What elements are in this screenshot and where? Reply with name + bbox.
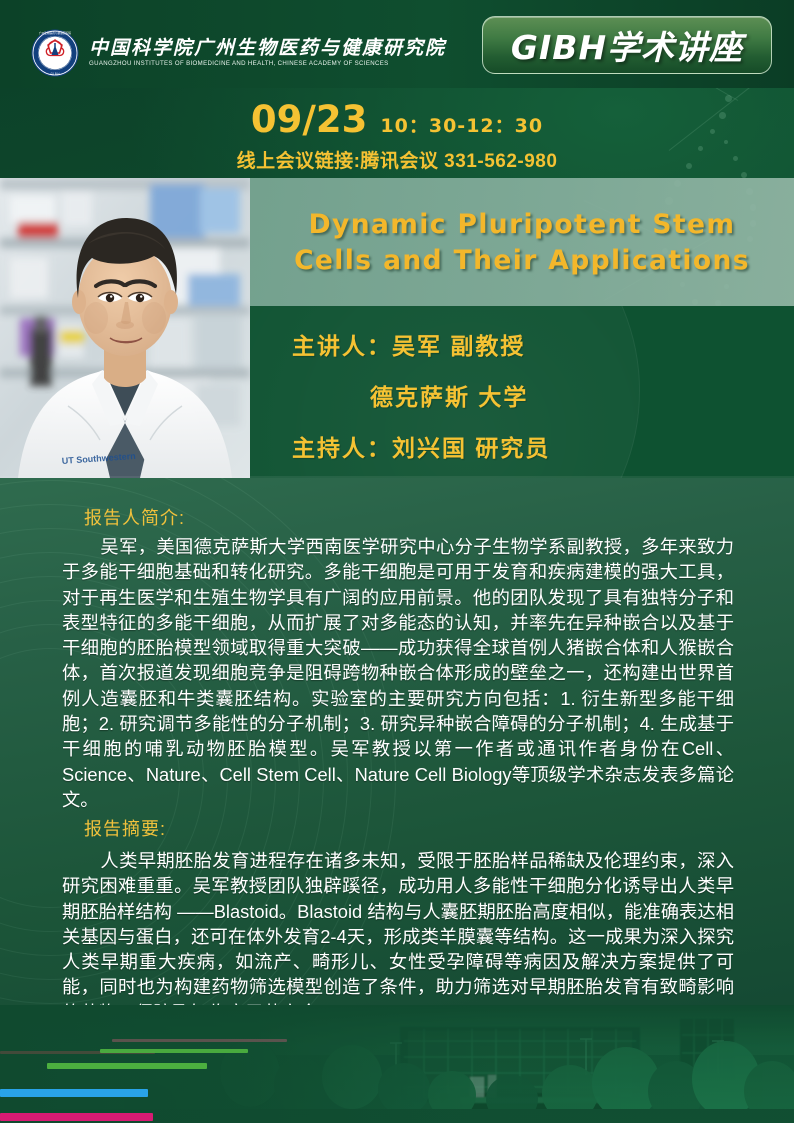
abstract-heading: 报告摘要:	[84, 815, 166, 841]
speaker-name: 主讲人：吴军 副教授	[292, 327, 525, 361]
speaker-photo: UT Southwestern	[0, 178, 250, 478]
gibh-badge-label: GIBH学术讲座	[511, 21, 743, 69]
bio-text: 吴军，美国德克萨斯大学西南医学研究中心分子生物学系副教授，多年来致力于多能干细胞…	[62, 536, 734, 810]
event-date: 09/23	[251, 98, 368, 141]
institute-name-cn: 中国科学院广州生物医药与健康研究院	[89, 39, 446, 60]
bar-magenta	[0, 1113, 153, 1121]
event-time: 10：30-12：30	[380, 111, 543, 138]
institute-name-en: GUANGZHOU INSTITUTES OF BIOMEDICINE AND …	[89, 60, 446, 67]
speaker-info-block: 主讲人：吴军 副教授 德克萨斯 大学 主持人：刘兴国 研究员	[250, 306, 794, 478]
bio-heading: 报告人简介:	[84, 504, 185, 530]
gibh-seal-icon: 广州生物医药与健康研究院 G I B H	[30, 28, 80, 78]
event-datetime-block: 09/23 10：30-12：30 线上会议链接:腾讯会议 331-562-98…	[0, 92, 794, 176]
institute-logo: 广州生物医药与健康研究院 G I B H 中国科学院广州生物医药与健康研究院 G…	[30, 28, 446, 78]
accent-bars	[0, 1037, 330, 1109]
bio-paragraph: 吴军，美国德克萨斯大学西南医学研究中心分子生物学系副教授，多年来致力于多能干细胞…	[62, 534, 734, 812]
bar-green-faint	[100, 1049, 248, 1053]
svg-text:广州生物医药与健康研究院: 广州生物医药与健康研究院	[39, 31, 72, 35]
title-line-2: Cells and Their Applications	[294, 245, 750, 276]
poster-body: 报告人简介: 吴军，美国德克萨斯大学西南医学研究中心分子生物学系副教授，多年来致…	[0, 478, 794, 1123]
gibh-lecture-badge: GIBH学术讲座	[482, 16, 772, 74]
lecture-title-band: Dynamic Pluripotent Stem Cells and Their…	[250, 178, 794, 306]
seminar-poster: 广州生物医药与健康研究院 G I B H 中国科学院广州生物医药与健康研究院 G…	[0, 0, 794, 1123]
meeting-link[interactable]: 线上会议链接:腾讯会议 331-562-980	[0, 146, 794, 173]
abstract-text: 人类早期胚胎发育进程存在诸多未知，受限于胚胎样品稀缺及伦理约束，深入研究困难重重…	[62, 850, 734, 1023]
host-name: 主持人：刘兴国 研究员	[292, 429, 550, 463]
bar-faint-pink	[112, 1039, 287, 1042]
svg-text:G I B H: G I B H	[51, 72, 60, 76]
title-line-1: Dynamic Pluripotent Stem	[309, 209, 736, 240]
date-row: 09/23 10：30-12：30	[0, 98, 794, 141]
bar-green	[47, 1063, 207, 1069]
bar-blue	[0, 1089, 148, 1097]
poster-header: 广州生物医药与健康研究院 G I B H 中国科学院广州生物医药与健康研究院 G…	[0, 0, 794, 88]
abstract-paragraph: 人类早期胚胎发育进程存在诸多未知，受限于胚胎样品稀缺及伦理约束，深入研究困难重重…	[62, 848, 734, 1025]
speaker-affiliation: 德克萨斯 大学	[370, 378, 528, 412]
